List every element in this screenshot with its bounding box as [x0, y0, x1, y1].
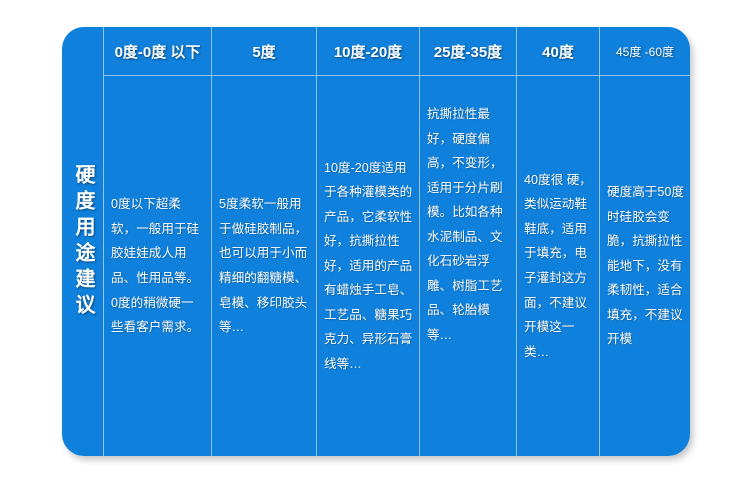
column-body-text-3: 抗撕拉性最好，硬度偏高，不变形，适用于分片刷模。比如各种水泥制品、文化石砂岩浮雕…	[427, 102, 510, 347]
table-column-5: 45度 -60度 硬度高于50度时硅胶会变脆，抗撕拉性能地下，没有柔韧性，适合填…	[600, 27, 690, 456]
table-columns: 0度-0度 以下 0度以下超柔软，一般用于硅胶娃娃成人用品、性用品等。0度的稍微…	[104, 27, 690, 456]
table-column-2: 10度-20度 10度-20度适用于各种灌模类的 产品，它柔软性好，抗撕拉性好，…	[317, 27, 420, 456]
column-body-text-5: 硬度高于50度时硅胶会变脆，抗撕拉性能地下，没有柔韧性，适合填充，不建议开模	[607, 180, 684, 352]
hardness-usage-table: 硬度用途建议 0度-0度 以下 0度以下超柔软，一般用于硅胶娃娃成人用品、性用品…	[62, 27, 690, 456]
column-body-text-0: 0度以下超柔软，一般用于硅胶娃娃成人用品、性用品等。0度的稍微硬一些看客户需求。	[111, 192, 205, 339]
column-header-2: 10度-20度	[317, 27, 419, 76]
column-header-1: 5度	[212, 27, 316, 76]
column-body-0: 0度以下超柔软，一般用于硅胶娃娃成人用品、性用品等。0度的稍微硬一些看客户需求。	[104, 76, 211, 456]
column-body-3: 抗撕拉性最好，硬度偏高，不变形，适用于分片刷模。比如各种水泥制品、文化石砂岩浮雕…	[420, 76, 516, 456]
column-body-2: 10度-20度适用于各种灌模类的 产品，它柔软性好，抗撕拉性好，适用的产品有蜡烛…	[317, 76, 419, 456]
table-column-4: 40度 40度很 硬，类似运动鞋鞋底，适用于填充，电子灌封这方面，不建议开模这一…	[517, 27, 600, 456]
column-header-0: 0度-0度 以下	[104, 27, 211, 76]
column-body-5: 硬度高于50度时硅胶会变脆，抗撕拉性能地下，没有柔韧性，适合填充，不建议开模	[600, 76, 690, 456]
column-body-4: 40度很 硬，类似运动鞋鞋底，适用于填充，电子灌封这方面，不建议开模这一类…	[517, 76, 599, 456]
column-body-text-2: 10度-20度适用于各种灌模类的 产品，它柔软性好，抗撕拉性好，适用的产品有蜡烛…	[324, 156, 413, 377]
column-header-3: 25度-35度	[420, 27, 516, 76]
table-column-3: 25度-35度 抗撕拉性最好，硬度偏高，不变形，适用于分片刷模。比如各种水泥制品…	[420, 27, 517, 456]
column-body-1: 5度柔软一般用于做硅胶制品，也可以用于小而精细的翻糖模、皂模、移印胶头等…	[212, 76, 316, 456]
column-body-text-4: 40度很 硬，类似运动鞋鞋底，适用于填充，电子灌封这方面，不建议开模这一类…	[524, 168, 593, 364]
column-body-text-1: 5度柔软一般用于做硅胶制品，也可以用于小而精细的翻糖模、皂模、移印胶头等…	[219, 192, 310, 339]
row-header-label: 硬度用途建议	[69, 164, 96, 320]
table-column-1: 5度 5度柔软一般用于做硅胶制品，也可以用于小而精细的翻糖模、皂模、移印胶头等…	[212, 27, 317, 456]
row-header-hardness-usage: 硬度用途建议	[62, 27, 104, 456]
table-column-0: 0度-0度 以下 0度以下超柔软，一般用于硅胶娃娃成人用品、性用品等。0度的稍微…	[104, 27, 212, 456]
column-header-4: 40度	[517, 27, 599, 76]
column-header-5: 45度 -60度	[600, 27, 690, 76]
